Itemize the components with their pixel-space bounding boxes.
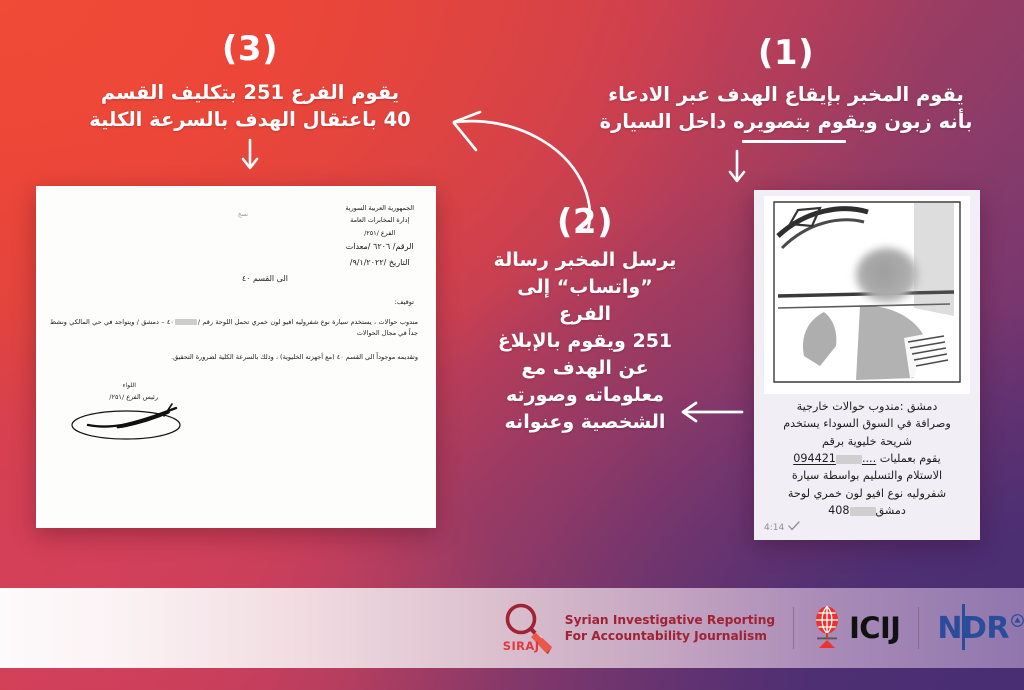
step-2-line-3: 251 ويقوم بالإبلاغ <box>498 330 672 352</box>
footer-divider-2 <box>918 607 919 649</box>
left-arrow-step1-to-step2-icon <box>676 395 746 429</box>
document-para1-part-a: مندوب حوالات ، يستخدم سيارة نوع شفروليه … <box>198 318 418 326</box>
document-header-line-3: الفرع /٢٥١/ <box>345 227 414 239</box>
blurred-face-redaction <box>856 248 918 302</box>
whatsapp-line4-prefix: يقوم بعمليات <box>880 452 941 465</box>
whatsapp-city: دمشق <box>876 504 906 517</box>
document-signatory-rank: اللواء <box>123 382 136 389</box>
step-1-underline <box>742 140 846 143</box>
step-1-line-2: بأنه زبون ويقوم بتصويره داخل السيارة <box>600 110 973 133</box>
document-subject-label: توقيف: <box>395 298 414 306</box>
step-3-number: (3) <box>75 32 425 66</box>
step-3-line-1: يقوم الفرع 251 بتكليف القسم <box>101 81 399 104</box>
whatsapp-phone-prefix: 094421 <box>793 452 836 465</box>
step-2-block: (2) يرسل المخبر رسالة ”واتساب“ إلى الفرع… <box>490 205 680 436</box>
whatsapp-timestamp: 4:14 <box>764 523 784 533</box>
step-1-text: يقوم المخبر بإيقاع الهدف عبر الادعاء بأن… <box>586 82 986 136</box>
whatsapp-phone-redaction <box>836 455 862 464</box>
siraj-tagline: Syrian Investigative Reporting For Accou… <box>565 612 775 644</box>
whatsapp-screenshot-image[interactable]: دمشق :مندوب حوالات خارجية وصرافة في السو… <box>754 190 980 540</box>
whatsapp-line-1: دمشق :مندوب حوالات خارجية <box>762 398 972 415</box>
icij-logo[interactable]: ICIJ <box>812 604 900 652</box>
whatsapp-line-7: دمشق408 <box>762 502 972 519</box>
step-1-block: (1) يقوم المخبر بإيقاع الهدف عبر الادعاء… <box>586 36 986 187</box>
document-recipient: الى القسم ٤٠ <box>242 274 288 283</box>
siraj-wordmark: SIRAJ <box>503 639 540 653</box>
whatsapp-line-4: يقوم بعمليات ....094421 <box>762 450 972 467</box>
document-paragraph-2: وتقديمه موجوداً الى القسم ٤٠ (مع أجهزته … <box>50 352 418 363</box>
document-header-line-1: الجمهورية العربية السورية <box>345 202 414 214</box>
document-redaction-box <box>175 319 197 325</box>
step-2-line-6: الشخصية وعنوانه <box>505 411 666 433</box>
step-1-line-1: يقوم المخبر بإيقاع الهدف عبر الادعاء <box>608 83 964 106</box>
siraj-tagline-line-1: Syrian Investigative Reporting <box>565 612 775 628</box>
document-handwritten-signature <box>64 392 194 444</box>
document-header-line-2: إدارة المخابرات العامة <box>345 214 414 226</box>
whatsapp-line-6: شفروليه نوع افيو لون خمري لوحة <box>762 485 972 502</box>
document-header-line-5: التاريخ /٩/١/٢٠٢٢/ <box>345 255 414 271</box>
footer-logo-band: SIRAJ Syrian Investigative Reporting For… <box>0 588 1024 668</box>
whatsapp-message-text: دمشق :مندوب حوالات خارجية وصرافة في السو… <box>762 398 972 520</box>
step-2-line-4: عن الهدف مع <box>521 357 648 379</box>
document-header-line-4: الرقم/ ٦٢٠٦ /معدات <box>345 239 414 255</box>
siraj-tagline-line-2: For Accountability Journalism <box>565 628 775 644</box>
ard-circle-icon <box>1011 612 1024 631</box>
whatsapp-plate-number: 408 <box>828 504 849 517</box>
icij-wordmark: ICIJ <box>849 611 900 645</box>
siraj-logo[interactable]: SIRAJ Syrian Investigative Reporting For… <box>502 602 775 654</box>
step-3-line-2: 40 باعتقال الهدف بالسرعة الكلية <box>89 108 410 131</box>
document-paragraph-1: مندوب حوالات ، يستخدم سيارة نوع شفروليه … <box>50 317 418 339</box>
infographic-canvas: (1) يقوم المخبر بإيقاع الهدف عبر الادعاء… <box>0 0 1024 690</box>
document-faint-stamp: نسخ <box>238 212 248 218</box>
whatsapp-plate-redaction <box>850 507 876 516</box>
informant-photo <box>764 196 970 394</box>
whatsapp-message-meta: 4:14 <box>764 521 800 534</box>
siraj-magnifier-pen-icon: SIRAJ <box>502 602 556 654</box>
step-2-text: يرسل المخبر رسالة ”واتساب“ إلى الفرع 251… <box>490 247 680 436</box>
step-3-text: يقوم الفرع 251 بتكليف القسم 40 باعتقال ا… <box>75 80 425 134</box>
ndr-logo[interactable]: NDR <box>937 611 1024 646</box>
footer-divider-1 <box>793 607 794 649</box>
whatsapp-line-3: شريحة خليوية برقم <box>762 433 972 450</box>
step-2-number: (2) <box>490 205 680 239</box>
document-para1-part-b: ٤٠ <box>167 318 174 326</box>
step-1-down-arrow-icon <box>586 149 888 187</box>
whatsapp-line-5: الاستلام والتسليم بواسطة سيارة <box>762 467 972 484</box>
whatsapp-delivered-check-icon <box>788 521 800 534</box>
icij-globe-icon <box>812 604 842 652</box>
security-document-image[interactable]: نسخ الجمهورية العربية السورية إدارة المخ… <box>36 186 436 528</box>
step-2-line-2: ”واتساب“ إلى الفرع <box>517 276 652 325</box>
whatsapp-line-2: وصرافة في السوق السوداء يستخدم <box>762 415 972 432</box>
ndr-vertical-bar-icon <box>962 604 965 650</box>
step-2-line-1: يرسل المخبر رسالة <box>494 249 677 271</box>
step-1-number: (1) <box>586 36 986 70</box>
step-2-line-5: معلوماته وصورته <box>506 384 664 406</box>
ndr-wordmark: NDR <box>937 611 1009 646</box>
document-letterhead: الجمهورية العربية السورية إدارة المخابرا… <box>345 202 414 271</box>
step-3-down-arrow-icon <box>75 138 425 174</box>
step-3-block: (3) يقوم الفرع 251 بتكليف القسم 40 باعتق… <box>75 32 425 174</box>
whatsapp-line4-dots: .... <box>862 452 876 465</box>
